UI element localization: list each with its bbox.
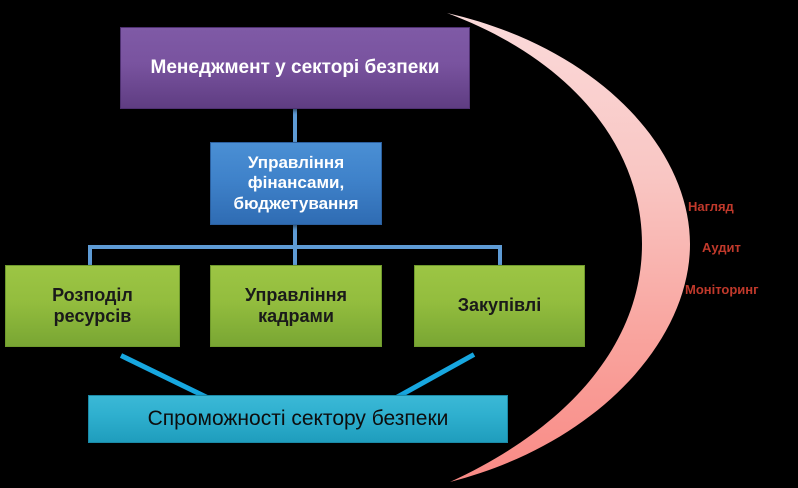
oversight-label-supervision: Нагляд xyxy=(688,199,734,214)
oversight-label-audit: Аудит xyxy=(702,240,741,255)
node-procurement-label: Закупівлі xyxy=(458,295,541,316)
connector-drop-left xyxy=(88,245,92,266)
diagram-canvas: Менеджмент у секторі безпеки Управління … xyxy=(0,0,798,488)
node-resource-allocation[interactable]: Розподіл ресурсів xyxy=(5,265,180,347)
node-financial-management[interactable]: Управління фінансами, бюджетування xyxy=(210,142,382,225)
connector-horizontal-bus xyxy=(88,245,502,249)
connector-procurement-to-capabilities xyxy=(394,352,475,400)
node-financial-management-label: Управління фінансами, бюджетування xyxy=(234,153,359,213)
connector-top-to-finance xyxy=(293,109,297,143)
node-security-sector-management-label: Менеджмент у секторі безпеки xyxy=(151,57,440,79)
node-personnel-management-label: Управління кадрами xyxy=(245,285,347,327)
node-security-sector-capabilities-label: Спроможності сектору безпеки xyxy=(148,407,449,432)
node-security-sector-management[interactable]: Менеджмент у секторі безпеки xyxy=(120,27,470,109)
node-security-sector-capabilities[interactable]: Спроможності сектору безпеки xyxy=(88,395,508,443)
node-personnel-management[interactable]: Управління кадрами xyxy=(210,265,382,347)
node-resource-allocation-label: Розподіл ресурсів xyxy=(52,285,133,327)
connector-drop-right xyxy=(498,245,502,266)
oversight-label-monitoring: Моніторинг xyxy=(685,282,759,297)
node-procurement[interactable]: Закупівлі xyxy=(414,265,585,347)
